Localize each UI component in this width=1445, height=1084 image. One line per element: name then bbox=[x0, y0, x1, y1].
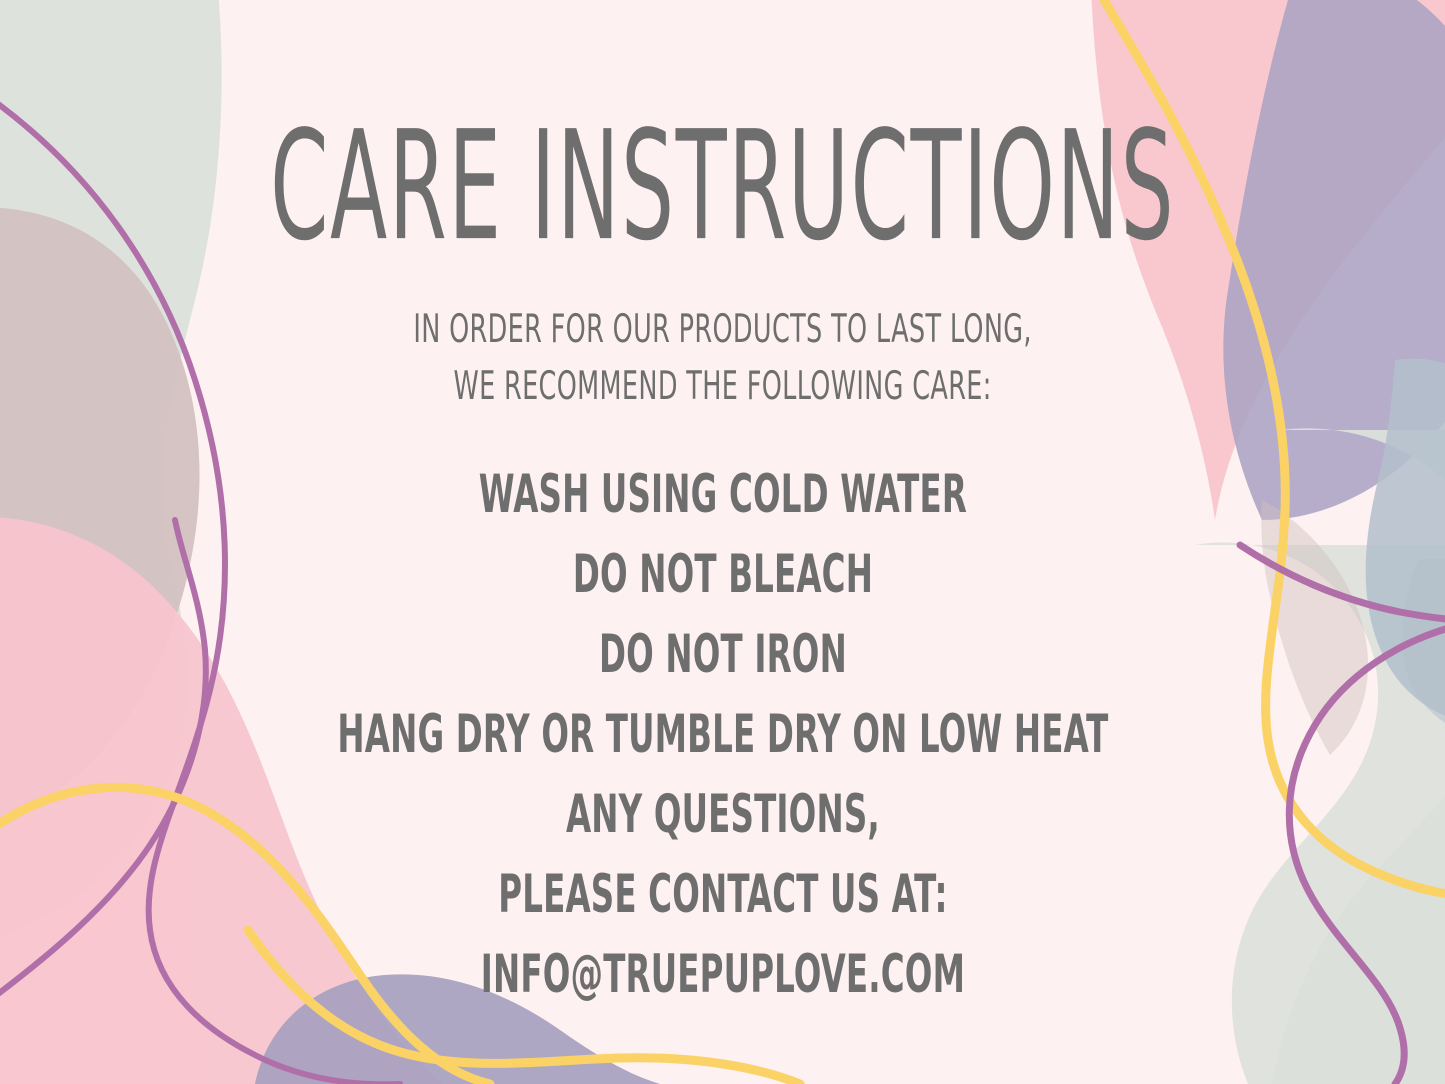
care-instructions-card: CARE INSTRUCTIONS IN ORDER FOR OUR PRODU… bbox=[0, 0, 1445, 1084]
decorative-background-art bbox=[0, 0, 1445, 1084]
